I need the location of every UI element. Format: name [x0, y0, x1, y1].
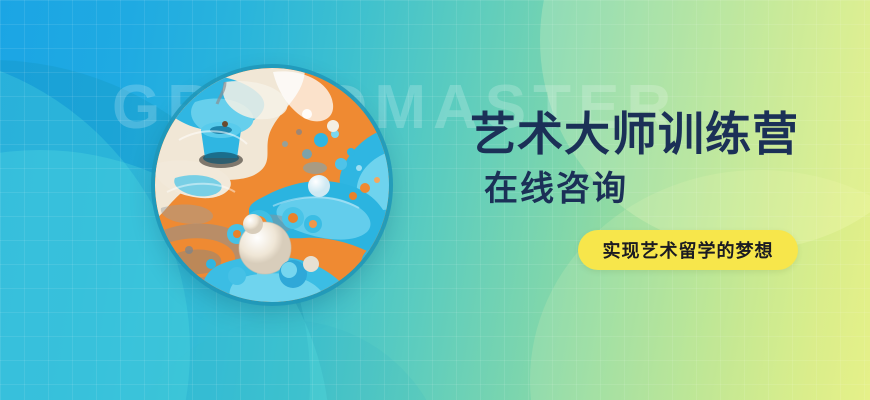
cta-button[interactable]: 实现艺术留学的梦想 [578, 230, 798, 270]
banner-subtitle: 在线咨询 [484, 169, 810, 210]
decor-arc-inner-right [120, 320, 450, 400]
fluid-art-image [155, 68, 389, 302]
artwork-circle [155, 68, 389, 302]
banner-title: 艺术大师训练营 [470, 108, 810, 161]
headline-block: 艺术大师训练营 在线咨询 [470, 108, 810, 210]
promo-banner: GRANDMASTER [0, 0, 870, 400]
